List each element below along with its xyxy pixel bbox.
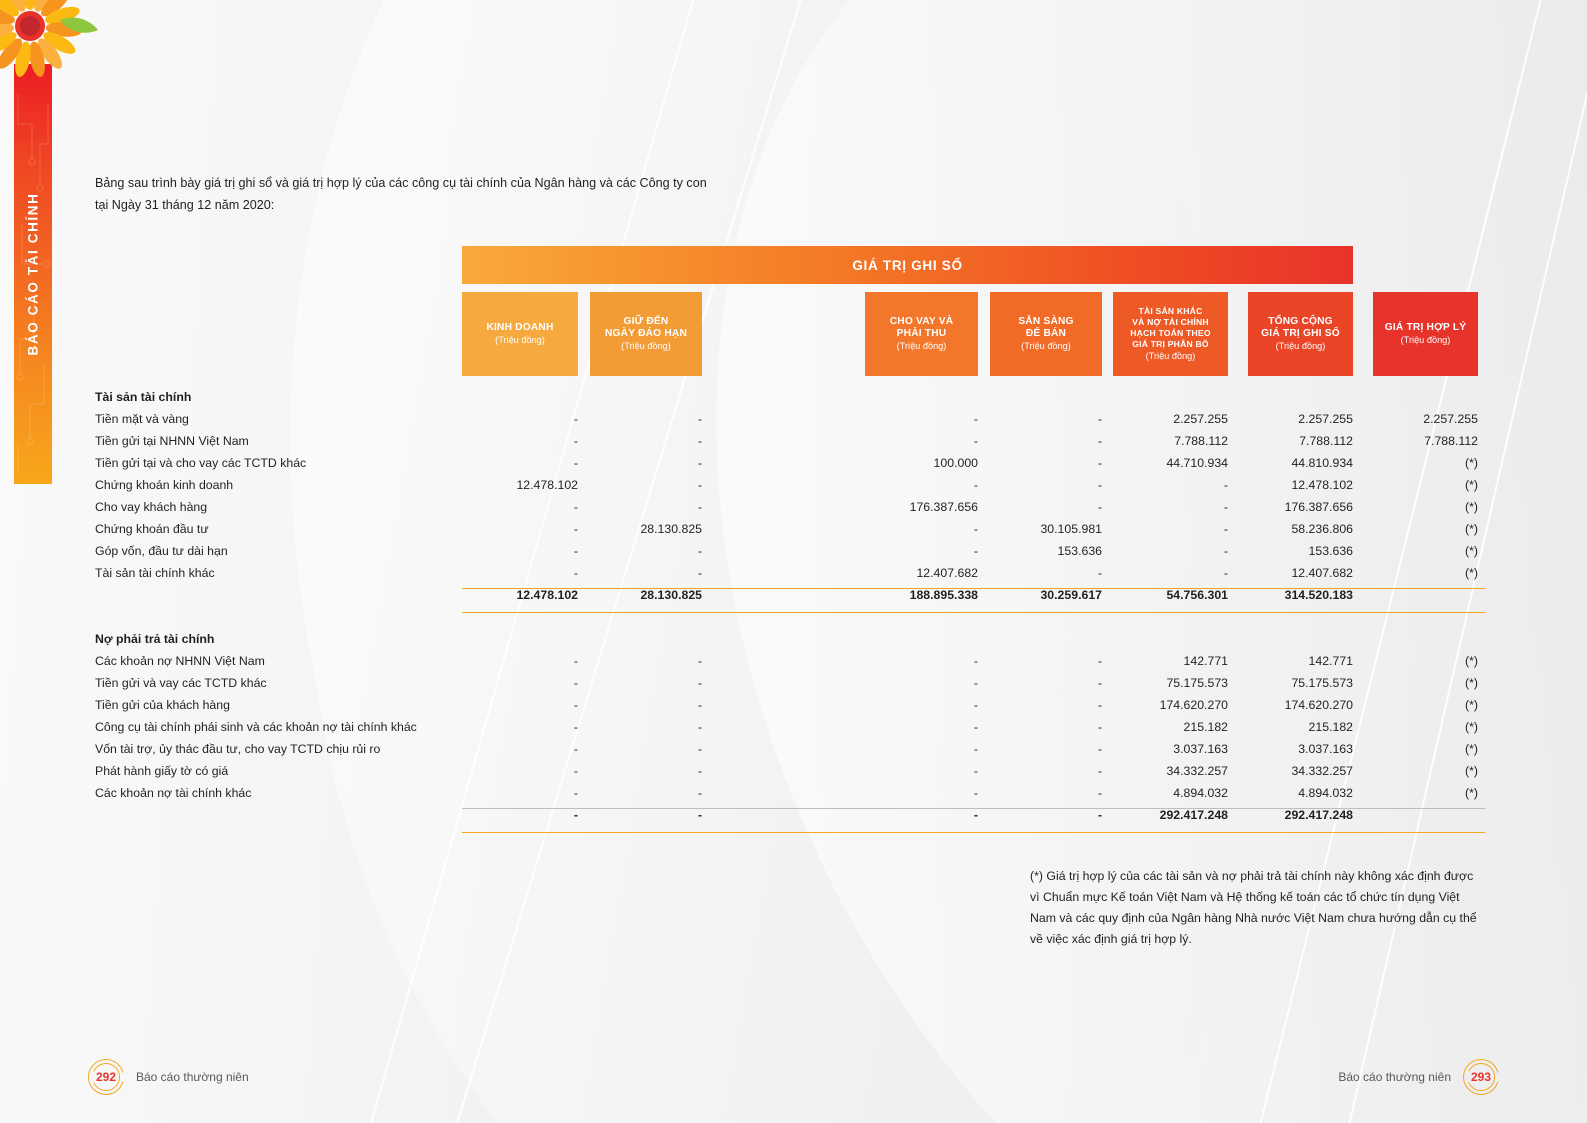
section-spacer bbox=[95, 606, 1485, 628]
cell-c4: 30.259.617 bbox=[990, 584, 1102, 606]
cell-c3: - bbox=[865, 694, 978, 716]
cell-c3: - bbox=[865, 716, 978, 738]
cell-c7: 2.257.255 bbox=[1373, 408, 1478, 430]
cell-c3: - bbox=[865, 474, 978, 496]
column-header-title: GIÁ TRỊ HỢP LÝ bbox=[1385, 322, 1467, 334]
cell-c7: (*) bbox=[1373, 540, 1478, 562]
cell-c5: 44.710.934 bbox=[1113, 452, 1228, 474]
cell-c2: - bbox=[590, 562, 702, 584]
cell-c1: - bbox=[462, 430, 578, 452]
column-header-3: CHO VAY VÀPHẢI THU(Triệu đồng) bbox=[865, 292, 978, 376]
cell-c3: - bbox=[865, 518, 978, 540]
ribbon-label: BÁO CÁO TÀI CHÍNH bbox=[26, 193, 41, 356]
table-body: Tài sản tài chínhTiền mặt và vàng----2.2… bbox=[95, 386, 1485, 826]
cell-c1: - bbox=[462, 716, 578, 738]
cell-c1: 12.478.102 bbox=[462, 584, 578, 606]
column-header-unit: (Triệu đồng) bbox=[1021, 340, 1071, 352]
cell-c5: 2.257.255 bbox=[1113, 408, 1228, 430]
table-total-row: ----292.417.248292.417.248 bbox=[95, 804, 1485, 826]
intro-paragraph: Bảng sau trình bày giá trị ghi sổ và giá… bbox=[95, 172, 715, 216]
table-row: Các khoản nợ tài chính khác----4.894.032… bbox=[95, 782, 1485, 804]
cell-c5: 174.620.270 bbox=[1113, 694, 1228, 716]
page-root: BÁO CÁO TÀI CHÍNH bbox=[0, 0, 1587, 1123]
cell-c2: - bbox=[590, 650, 702, 672]
column-header-7: GIÁ TRỊ HỢP LÝ(Triệu đồng) bbox=[1373, 292, 1478, 376]
cell-c2: - bbox=[590, 760, 702, 782]
cell-c4: - bbox=[990, 804, 1102, 826]
cell-c6: 314.520.183 bbox=[1248, 584, 1353, 606]
table-row: Công cụ tài chính phái sinh và các khoản… bbox=[95, 716, 1485, 738]
cell-c6: 292.417.248 bbox=[1248, 804, 1353, 826]
table-row: Chứng khoán đầu tư-28.130.825-30.105.981… bbox=[95, 518, 1485, 540]
section-heading-row: Nợ phải trả tài chính bbox=[95, 628, 1485, 650]
page-number-left-value: 292 bbox=[96, 1070, 116, 1084]
column-header-unit: (Triệu đồng) bbox=[1401, 334, 1451, 346]
cell-c6: 58.236.806 bbox=[1248, 518, 1353, 540]
cell-c5: 54.756.301 bbox=[1113, 584, 1228, 606]
row-label: Tài sản tài chính bbox=[95, 386, 191, 408]
table-column-headers: KINH DOANH(Triệu đồng)GIỮ ĐẾNNGÀY ĐÁO HẠ… bbox=[95, 292, 1485, 376]
row-label: Tiền gửi của khách hàng bbox=[95, 694, 230, 716]
cell-c6: 34.332.257 bbox=[1248, 760, 1353, 782]
cell-c5: - bbox=[1113, 540, 1228, 562]
column-header-4: SẴN SÀNGĐỂ BÁN(Triệu đồng) bbox=[990, 292, 1102, 376]
column-header-title: SẴN SÀNGĐỂ BÁN bbox=[1018, 316, 1073, 341]
table-row: Tiền gửi và vay các TCTD khác----75.175.… bbox=[95, 672, 1485, 694]
column-header-unit: (Triệu đồng) bbox=[495, 334, 545, 346]
cell-c7: (*) bbox=[1373, 562, 1478, 584]
table-total-row: 12.478.10228.130.825188.895.33830.259.61… bbox=[95, 584, 1485, 606]
cell-c4: - bbox=[990, 496, 1102, 518]
cell-c5: 34.332.257 bbox=[1113, 760, 1228, 782]
cell-c7: (*) bbox=[1373, 760, 1478, 782]
section-ribbon: BÁO CÁO TÀI CHÍNH bbox=[14, 64, 52, 484]
cell-c1: - bbox=[462, 540, 578, 562]
cell-c3: - bbox=[865, 650, 978, 672]
cell-c2: - bbox=[590, 804, 702, 826]
cell-c3: - bbox=[865, 760, 978, 782]
row-label: Các khoản nợ NHNN Việt Nam bbox=[95, 650, 265, 672]
row-label: Tiền gửi tại và cho vay các TCTD khác bbox=[95, 452, 306, 474]
cell-c7: (*) bbox=[1373, 672, 1478, 694]
cell-c4: - bbox=[990, 562, 1102, 584]
cell-c5: 3.037.163 bbox=[1113, 738, 1228, 760]
footnote-text: (*) Giá trị hợp lý của các tài sản và nợ… bbox=[1030, 866, 1482, 950]
cell-c2: - bbox=[590, 474, 702, 496]
cell-c5: 292.417.248 bbox=[1113, 804, 1228, 826]
cell-c4: - bbox=[990, 474, 1102, 496]
cell-c4: 30.105.981 bbox=[990, 518, 1102, 540]
page-number-right-value: 293 bbox=[1471, 1070, 1491, 1084]
cell-c3: - bbox=[865, 782, 978, 804]
cell-c2: 28.130.825 bbox=[590, 584, 702, 606]
cell-c3: - bbox=[865, 738, 978, 760]
cell-c6: 75.175.573 bbox=[1248, 672, 1353, 694]
table-header-band-title: GIÁ TRỊ GHI SỔ bbox=[852, 258, 962, 273]
table-row: Tài sản tài chính khác--12.407.682--12.4… bbox=[95, 562, 1485, 584]
table-row: Tiền gửi tại NHNN Việt Nam----7.788.1127… bbox=[95, 430, 1485, 452]
cell-c2: - bbox=[590, 408, 702, 430]
row-label: Tài sản tài chính khác bbox=[95, 562, 215, 584]
row-label: Tiền gửi tại NHNN Việt Nam bbox=[95, 430, 249, 452]
cell-c7: (*) bbox=[1373, 474, 1478, 496]
cell-c2: - bbox=[590, 738, 702, 760]
table-row: Vốn tài trợ, ủy thác đầu tư, cho vay TCT… bbox=[95, 738, 1485, 760]
cell-c2: - bbox=[590, 430, 702, 452]
page-number-left: 292 bbox=[88, 1059, 124, 1095]
cell-c3: 100.000 bbox=[865, 452, 978, 474]
row-label: Chứng khoán đầu tư bbox=[95, 518, 209, 540]
table-row: Các khoản nợ NHNN Việt Nam----142.771142… bbox=[95, 650, 1485, 672]
cell-c6: 12.478.102 bbox=[1248, 474, 1353, 496]
cell-c3: - bbox=[865, 540, 978, 562]
cell-c5: - bbox=[1113, 474, 1228, 496]
table-row: Phát hành giấy tờ có giá----34.332.25734… bbox=[95, 760, 1485, 782]
table-row: Cho vay khách hàng--176.387.656--176.387… bbox=[95, 496, 1485, 518]
table-row: Tiền gửi của khách hàng----174.620.27017… bbox=[95, 694, 1485, 716]
sunflower-icon bbox=[0, 0, 104, 104]
cell-c6: 153.636 bbox=[1248, 540, 1353, 562]
cell-c3: 12.407.682 bbox=[865, 562, 978, 584]
table-rule bbox=[462, 612, 1485, 613]
section-heading-row: Tài sản tài chính bbox=[95, 386, 1485, 408]
cell-c4: - bbox=[990, 694, 1102, 716]
cell-c6: 4.894.032 bbox=[1248, 782, 1353, 804]
cell-c7: (*) bbox=[1373, 782, 1478, 804]
column-header-title: CHO VAY VÀPHẢI THU bbox=[890, 316, 954, 341]
cell-c5: 75.175.573 bbox=[1113, 672, 1228, 694]
cell-c3: - bbox=[865, 430, 978, 452]
row-label: Phát hành giấy tờ có giá bbox=[95, 760, 228, 782]
footer-left: 292 Báo cáo thường niên bbox=[88, 1059, 249, 1095]
cell-c2: - bbox=[590, 672, 702, 694]
cell-c1: - bbox=[462, 760, 578, 782]
table-rule bbox=[462, 832, 1485, 833]
footer-left-text: Báo cáo thường niên bbox=[136, 1070, 249, 1084]
cell-c6: 7.788.112 bbox=[1248, 430, 1353, 452]
cell-c6: 3.037.163 bbox=[1248, 738, 1353, 760]
cell-c4: - bbox=[990, 672, 1102, 694]
cell-c7: (*) bbox=[1373, 694, 1478, 716]
cell-c4: - bbox=[990, 650, 1102, 672]
table-row: Tiền mặt và vàng----2.257.2552.257.2552.… bbox=[95, 408, 1485, 430]
cell-c5: 7.788.112 bbox=[1113, 430, 1228, 452]
cell-c6: 174.620.270 bbox=[1248, 694, 1353, 716]
footer-right: Báo cáo thường niên 293 bbox=[1338, 1059, 1499, 1095]
cell-c2: 28.130.825 bbox=[590, 518, 702, 540]
footer-right-text: Báo cáo thường niên bbox=[1338, 1070, 1451, 1084]
column-header-unit: (Triệu đồng) bbox=[1146, 350, 1196, 362]
table-row: Góp vốn, đầu tư dài hạn---153.636-153.63… bbox=[95, 540, 1485, 562]
row-label: Chứng khoán kinh doanh bbox=[95, 474, 233, 496]
cell-c2: - bbox=[590, 540, 702, 562]
cell-c3: 188.895.338 bbox=[865, 584, 978, 606]
cell-c2: - bbox=[590, 452, 702, 474]
column-header-6: TỔNG CỘNGGIÁ TRỊ GHI SỐ(Triệu đồng) bbox=[1248, 292, 1353, 376]
cell-c1: - bbox=[462, 452, 578, 474]
cell-c1: - bbox=[462, 738, 578, 760]
cell-c7: 7.788.112 bbox=[1373, 430, 1478, 452]
cell-c1: - bbox=[462, 496, 578, 518]
column-header-unit: (Triệu đồng) bbox=[621, 340, 671, 352]
cell-c4: - bbox=[990, 782, 1102, 804]
cell-c7: (*) bbox=[1373, 738, 1478, 760]
cell-c1: - bbox=[462, 408, 578, 430]
cell-c4: - bbox=[990, 716, 1102, 738]
cell-c4: - bbox=[990, 430, 1102, 452]
row-label: Tiền mặt và vàng bbox=[95, 408, 189, 430]
cell-c5: - bbox=[1113, 518, 1228, 540]
cell-c1: - bbox=[462, 804, 578, 826]
cell-c6: 215.182 bbox=[1248, 716, 1353, 738]
table-row: Tiền gửi tại và cho vay các TCTD khác--1… bbox=[95, 452, 1485, 474]
column-header-title: KINH DOANH bbox=[486, 322, 553, 334]
cell-c1: - bbox=[462, 694, 578, 716]
cell-c3: - bbox=[865, 408, 978, 430]
cell-c5: 215.182 bbox=[1113, 716, 1228, 738]
cell-c1: - bbox=[462, 672, 578, 694]
cell-c3: - bbox=[865, 804, 978, 826]
row-label: Góp vốn, đầu tư dài hạn bbox=[95, 540, 228, 562]
cell-c1: - bbox=[462, 518, 578, 540]
cell-c2: - bbox=[590, 694, 702, 716]
page-number-right: 293 bbox=[1463, 1059, 1499, 1095]
row-label: Các khoản nợ tài chính khác bbox=[95, 782, 251, 804]
cell-c5: - bbox=[1113, 562, 1228, 584]
cell-c6: 2.257.255 bbox=[1248, 408, 1353, 430]
cell-c7: (*) bbox=[1373, 716, 1478, 738]
cell-c7: (*) bbox=[1373, 452, 1478, 474]
cell-c6: 44.810.934 bbox=[1248, 452, 1353, 474]
cell-c5: 4.894.032 bbox=[1113, 782, 1228, 804]
cell-c6: 142.771 bbox=[1248, 650, 1353, 672]
cell-c7: (*) bbox=[1373, 496, 1478, 518]
column-header-5: TÀI SẢN KHÁCVÀ NỢ TÀI CHÍNHHẠCH TOÁN THE… bbox=[1113, 292, 1228, 376]
cell-c4: - bbox=[990, 760, 1102, 782]
cell-c3: - bbox=[865, 672, 978, 694]
cell-c4: - bbox=[990, 452, 1102, 474]
column-header-title: GIỮ ĐẾNNGÀY ĐÁO HẠN bbox=[605, 316, 687, 341]
cell-c1: - bbox=[462, 562, 578, 584]
cell-c4: 153.636 bbox=[990, 540, 1102, 562]
table-row: Chứng khoán kinh doanh12.478.102----12.4… bbox=[95, 474, 1485, 496]
cell-c2: - bbox=[590, 782, 702, 804]
column-header-title: TỔNG CỘNGGIÁ TRỊ GHI SỐ bbox=[1261, 316, 1340, 341]
row-label: Nợ phải trả tài chính bbox=[95, 628, 214, 650]
row-label: Công cụ tài chính phái sinh và các khoản… bbox=[95, 716, 417, 738]
cell-c1: - bbox=[462, 650, 578, 672]
cell-c4: - bbox=[990, 408, 1102, 430]
column-header-1: KINH DOANH(Triệu đồng) bbox=[462, 292, 578, 376]
column-header-title: TÀI SẢN KHÁCVÀ NỢ TÀI CHÍNHHẠCH TOÁN THE… bbox=[1130, 306, 1210, 349]
row-label: Vốn tài trợ, ủy thác đầu tư, cho vay TCT… bbox=[95, 738, 380, 760]
row-label: Tiền gửi và vay các TCTD khác bbox=[95, 672, 267, 694]
column-header-2: GIỮ ĐẾNNGÀY ĐÁO HẠN(Triệu đồng) bbox=[590, 292, 702, 376]
column-header-unit: (Triệu đồng) bbox=[1276, 340, 1326, 352]
cell-c1: - bbox=[462, 782, 578, 804]
cell-c4: - bbox=[990, 738, 1102, 760]
cell-c7: (*) bbox=[1373, 650, 1478, 672]
table-header-band: GIÁ TRỊ GHI SỔ bbox=[462, 246, 1353, 284]
cell-c5: 142.771 bbox=[1113, 650, 1228, 672]
cell-c6: 12.407.682 bbox=[1248, 562, 1353, 584]
cell-c6: 176.387.656 bbox=[1248, 496, 1353, 518]
cell-c7: (*) bbox=[1373, 518, 1478, 540]
row-label: Cho vay khách hàng bbox=[95, 496, 207, 518]
cell-c3: 176.387.656 bbox=[865, 496, 978, 518]
cell-c2: - bbox=[590, 496, 702, 518]
cell-c1: 12.478.102 bbox=[462, 474, 578, 496]
cell-c2: - bbox=[590, 716, 702, 738]
column-header-unit: (Triệu đồng) bbox=[897, 340, 947, 352]
cell-c5: - bbox=[1113, 496, 1228, 518]
